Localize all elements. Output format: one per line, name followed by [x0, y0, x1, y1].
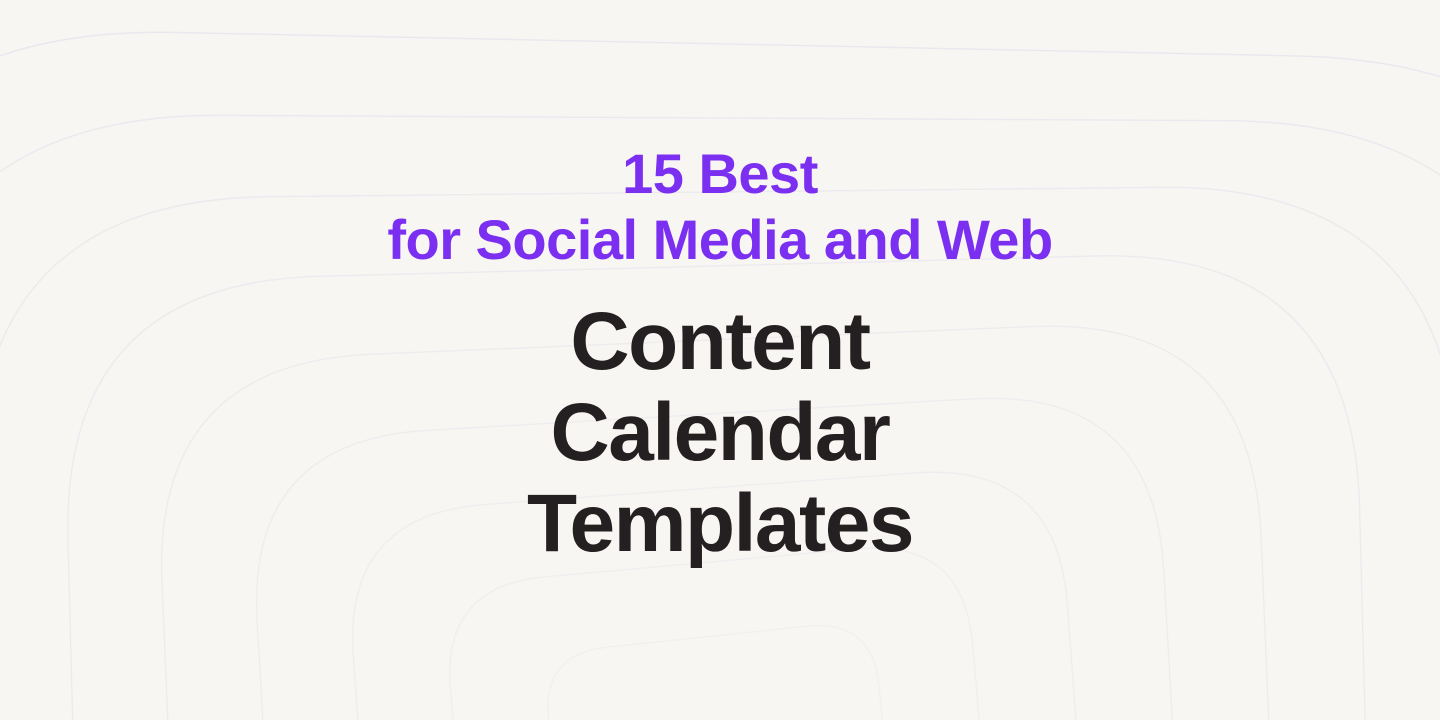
- hero-headline-line-1: Content: [570, 294, 869, 389]
- hero-headline-line-3: Templates: [527, 476, 913, 571]
- hero-headline-line-2: Calendar: [551, 385, 890, 480]
- hero-text-stack: 15 Best for Social Media and Web Content…: [0, 0, 1440, 720]
- hero-banner: 15 Best for Social Media and Web Content…: [0, 0, 1440, 720]
- hero-eyebrow-line-1: 15 Best: [622, 146, 818, 202]
- hero-eyebrow-line-2: for Social Media and Web: [387, 212, 1052, 268]
